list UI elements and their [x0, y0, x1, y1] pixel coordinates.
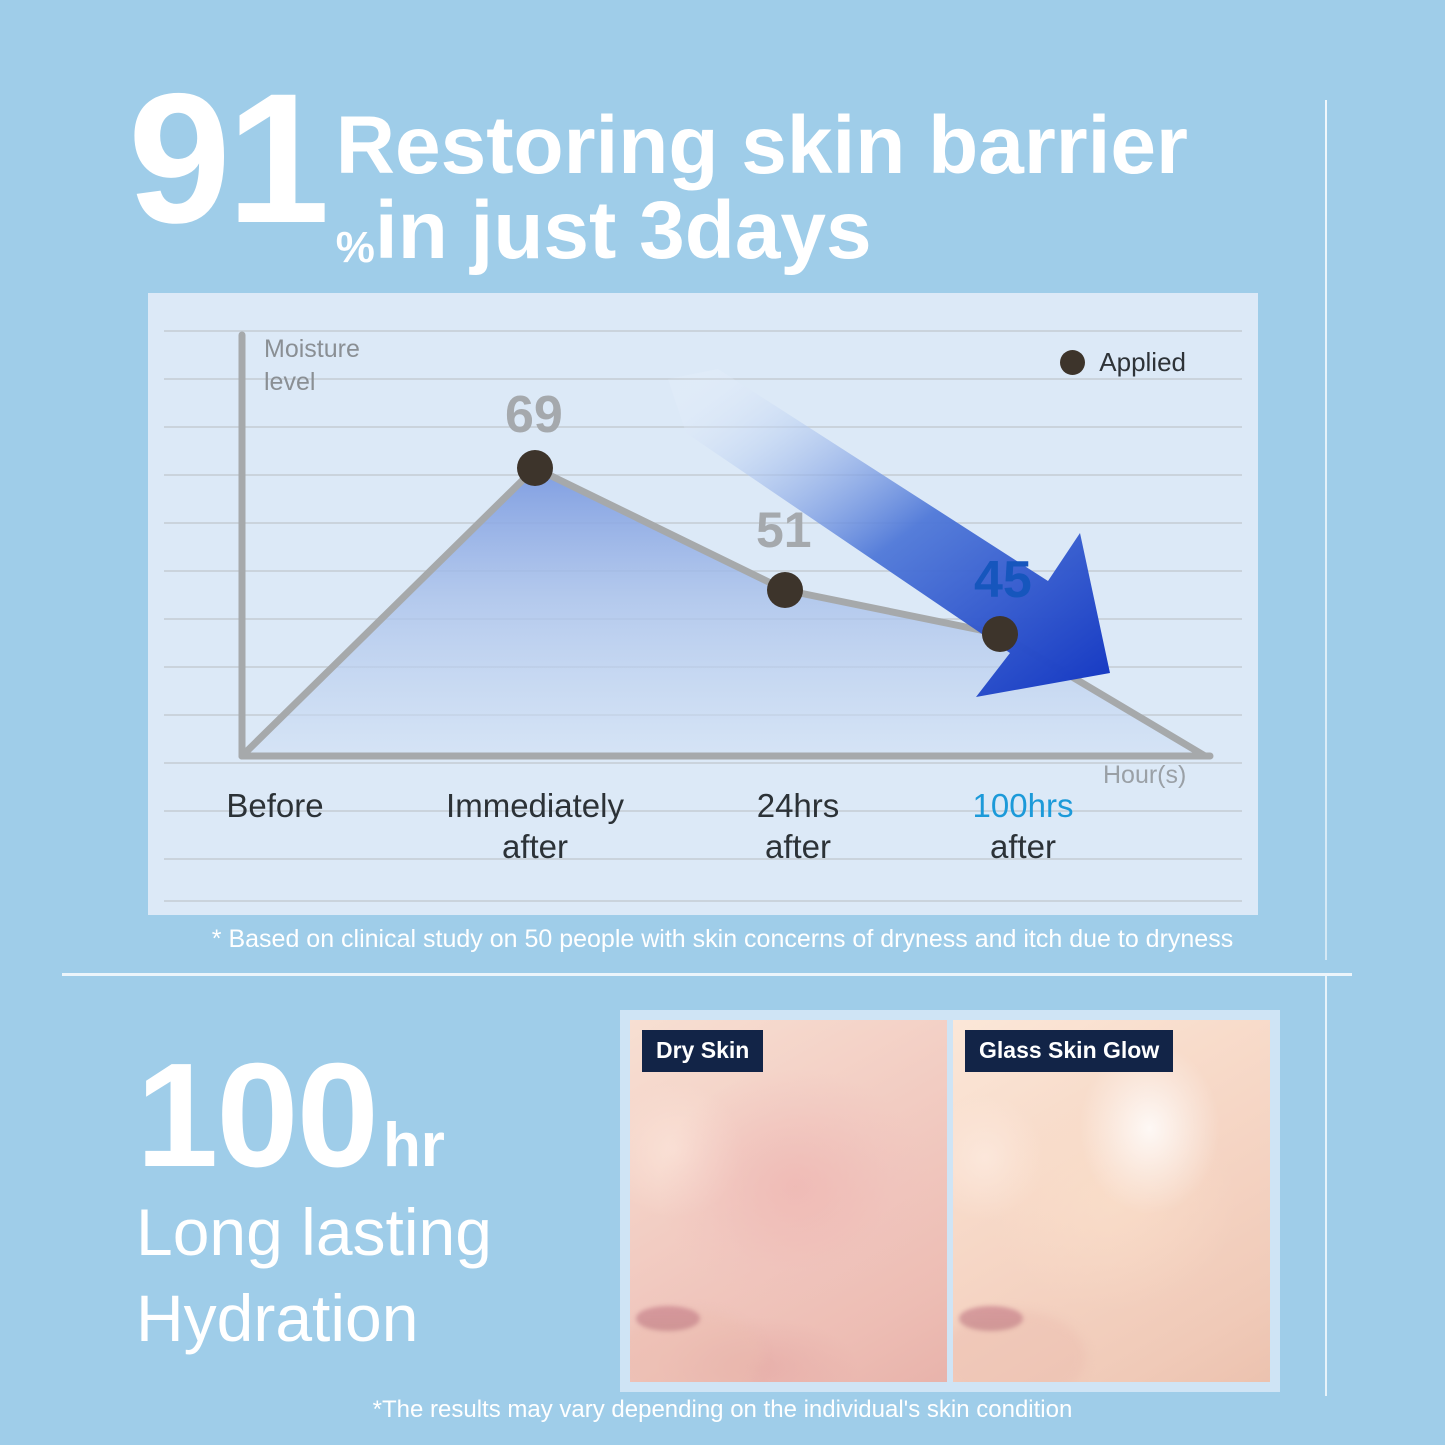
headline-line-2-text: in just 3days	[375, 185, 872, 276]
glass-skin-lip	[959, 1306, 1022, 1331]
hydration-claim-block: 100 hr Long lasting Hydration	[136, 1048, 492, 1356]
x-label-immediately-after: Immediately after	[410, 785, 660, 868]
chart-y-axis-title-line-2: level	[264, 366, 414, 399]
before-after-photo-frame: Dry Skin Glass Skin Glow	[620, 1010, 1280, 1392]
headline-line-2: %in just 3days	[336, 188, 1188, 274]
chart-y-axis-title: Moisture level	[264, 333, 414, 398]
badge-glass-skin-glow: Glass Skin Glow	[965, 1030, 1173, 1072]
data-point-24hrs-after	[767, 572, 803, 608]
x-label-immediately-line1: Immediately	[446, 787, 624, 824]
x-label-100hrs-after: 100hrs after	[908, 785, 1138, 868]
headline-line-1: Restoring skin barrier	[336, 104, 1188, 188]
legend-dot-icon	[1060, 350, 1085, 375]
photos-footnote: *The results may vary depending on the i…	[0, 1396, 1445, 1424]
x-label-before: Before	[160, 785, 390, 826]
moisture-chart-panel: Moisture level Applied 69 51 45 Hour(s) …	[148, 293, 1258, 915]
vertical-accent-line-top	[1325, 100, 1327, 960]
hydration-hours-number: 100	[136, 1048, 377, 1184]
chart-x-axis-labels: Before Immediately after 24hrs after 100…	[148, 781, 1258, 891]
x-label-before-line1: Before	[226, 787, 323, 824]
dry-skin-lip	[636, 1306, 699, 1331]
x-label-24hrs-line2: after	[698, 826, 898, 867]
photo-glass-skin-glow: Glass Skin Glow	[953, 1020, 1270, 1382]
x-label-100hrs-line2: after	[908, 826, 1138, 867]
hydration-hours-unit: hr	[377, 1110, 445, 1181]
photo-dry-skin: Dry Skin	[630, 1020, 947, 1382]
chart-y-axis-title-line-1: Moisture	[264, 333, 414, 366]
x-label-24hrs-line1: 24hrs	[757, 787, 840, 824]
headline-percent-number: 91	[128, 78, 326, 241]
x-label-immediately-line2: after	[410, 826, 660, 867]
chart-legend: Applied	[1060, 347, 1186, 378]
hydration-text-line-1: Long lasting	[136, 1196, 492, 1270]
hydration-text-line-2: Hydration	[136, 1282, 492, 1356]
section-divider	[62, 973, 1352, 976]
data-label-69: 69	[505, 385, 563, 445]
headline-block: 91 Restoring skin barrier %in just 3days	[128, 78, 1308, 274]
x-label-24hrs-after: 24hrs after	[698, 785, 898, 868]
data-label-45: 45	[974, 550, 1032, 610]
headline-percent-symbol: %	[336, 225, 375, 271]
data-label-51: 51	[756, 501, 812, 559]
chart-footnote: * Based on clinical study on 50 people w…	[0, 925, 1445, 954]
data-point-100hrs-after	[982, 616, 1018, 652]
data-point-immediately-after	[517, 450, 553, 486]
legend-label-applied: Applied	[1099, 347, 1186, 378]
vertical-accent-line-bottom	[1325, 976, 1327, 1396]
x-label-100hrs-line1: 100hrs	[973, 787, 1074, 824]
badge-dry-skin: Dry Skin	[642, 1030, 763, 1072]
